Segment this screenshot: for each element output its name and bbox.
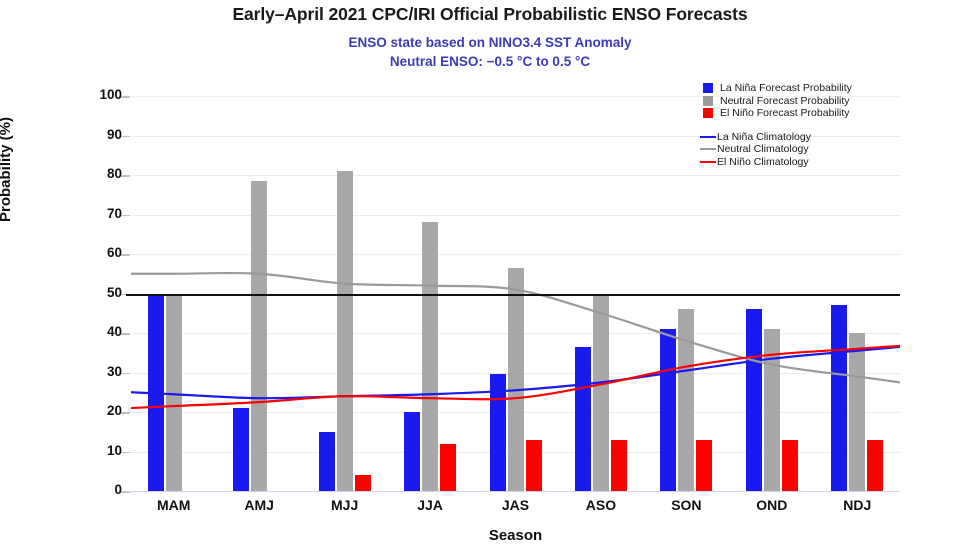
legend-label-elnino-clim: El Niño Climatology [717, 156, 809, 168]
legend-item-lanina-clim: La Niña Climatology [703, 131, 903, 144]
y-axis-tick [121, 452, 130, 454]
legend-line-neutral-clim [700, 148, 716, 150]
bar-ond-lanina [746, 309, 762, 491]
bar-son-lanina [660, 329, 676, 491]
chart-subtitle-line-2: Neutral ENSO: −0.5 °C to 0.5 °C [0, 52, 980, 71]
bar-mam-neutral [166, 295, 182, 491]
legend-item-lanina-forecast: La Niña Forecast Probability [703, 82, 903, 95]
y-axis-tick [121, 333, 130, 335]
gridline [131, 254, 900, 255]
x-axis-label-jja: JJA [417, 497, 443, 513]
bar-jas-lanina [490, 374, 506, 491]
legend-swatch-elnino-forecast [703, 108, 713, 118]
legend-item-elnino-clim: El Niño Climatology [703, 156, 903, 169]
bar-ndj-elnino [867, 440, 883, 491]
legend-line-lanina-clim [700, 136, 716, 138]
x-axis-label-amj: AMJ [244, 497, 274, 513]
x-axis-label-ond: OND [756, 497, 787, 513]
y-axis-tick [121, 215, 130, 217]
bar-mjj-lanina [319, 432, 335, 491]
bar-son-elnino [696, 440, 712, 491]
y-axis-tick [121, 373, 130, 375]
bar-aso-lanina [575, 347, 591, 491]
legend-label-neutral-forecast: Neutral Forecast Probability [720, 95, 850, 107]
bar-mam-lanina [148, 294, 164, 492]
gridline [131, 175, 900, 176]
legend-item-neutral-clim: Neutral Climatology [703, 143, 903, 156]
chart-subtitle-line-1: ENSO state based on NINO3.4 SST Anomaly [0, 33, 980, 52]
y-axis-tick-label: 80 [76, 166, 122, 181]
bar-jas-elnino [526, 440, 542, 491]
legend-label-lanina-forecast: La Niña Forecast Probability [720, 82, 852, 94]
chart-subtitle: ENSO state based on NINO3.4 SST Anomaly … [0, 33, 980, 71]
legend-separator [703, 120, 903, 131]
y-axis-tick-label: 100 [76, 87, 122, 102]
bar-ond-neutral [764, 329, 780, 491]
bar-aso-neutral [593, 294, 609, 492]
y-axis-tick [121, 254, 130, 256]
legend-item-elnino-forecast: El Niño Forecast Probability [703, 107, 903, 120]
y-axis-tick [121, 136, 130, 138]
bar-mjj-neutral [337, 171, 353, 491]
x-axis-label-son: SON [671, 497, 701, 513]
legend-label-lanina-clim: La Niña Climatology [717, 131, 811, 143]
bar-mjj-elnino [355, 475, 371, 491]
x-axis-tick-labels: MAMAMJMJJJJAJASASOSONONDNDJ [131, 497, 900, 519]
x-axis-label-jas: JAS [502, 497, 529, 513]
y-axis-tick-labels: 0102030405060708090100 [76, 96, 122, 491]
bar-ond-elnino [782, 440, 798, 491]
chart-legend: La Niña Forecast ProbabilityNeutral Fore… [703, 82, 903, 168]
reference-line-50 [126, 294, 900, 297]
legend-label-neutral-clim: Neutral Climatology [717, 143, 809, 155]
bar-jas-neutral [508, 268, 524, 491]
x-axis-label-mam: MAM [157, 497, 190, 513]
legend-swatch-lanina-forecast [703, 83, 713, 93]
chart-title: Early–April 2021 CPC/IRI Official Probab… [0, 4, 980, 25]
gridline [131, 215, 900, 216]
x-axis-line [126, 491, 900, 493]
x-axis-label-aso: ASO [586, 497, 616, 513]
y-axis-tick-label: 60 [76, 245, 122, 260]
legend-swatch-neutral-forecast [703, 96, 713, 106]
bar-jja-lanina [404, 412, 420, 491]
y-axis-tick [121, 96, 130, 98]
y-axis-tick-label: 10 [76, 443, 122, 458]
bar-jja-neutral [422, 222, 438, 491]
y-axis-tick [121, 175, 130, 177]
x-axis-label-ndj: NDJ [843, 497, 871, 513]
legend-line-elnino-clim [700, 161, 716, 163]
y-axis-tick-label: 70 [76, 206, 122, 221]
bar-ndj-lanina [831, 305, 847, 491]
x-axis-label-mjj: MJJ [331, 497, 358, 513]
y-axis-tick-label: 40 [76, 324, 122, 339]
y-axis-tick-label: 0 [76, 482, 122, 497]
bar-amj-neutral [251, 181, 267, 491]
y-axis-tick-label: 30 [76, 364, 122, 379]
bar-jja-elnino [440, 444, 456, 491]
x-axis-title: Season [131, 527, 900, 544]
enso-forecast-chart: Early–April 2021 CPC/IRI Official Probab… [0, 0, 980, 551]
y-axis-tick-label: 50 [76, 285, 122, 300]
y-axis-tick-label: 20 [76, 403, 122, 418]
legend-label-elnino-forecast: El Niño Forecast Probability [720, 107, 850, 119]
y-axis-tick [121, 412, 130, 414]
bar-aso-elnino [611, 440, 627, 491]
bar-amj-lanina [233, 408, 249, 491]
bar-son-neutral [678, 309, 694, 491]
legend-item-neutral-forecast: Neutral Forecast Probability [703, 95, 903, 108]
y-axis-tick-label: 90 [76, 127, 122, 142]
bar-ndj-neutral [849, 333, 865, 491]
y-axis-title: Probability (%) [0, 117, 14, 222]
